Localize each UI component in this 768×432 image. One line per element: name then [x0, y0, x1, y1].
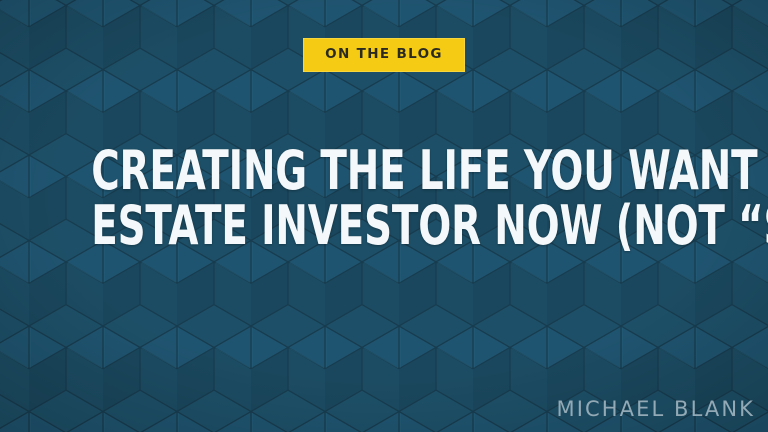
on-the-blog-badge[interactable]: ON THE BLOG — [303, 38, 465, 72]
headline-line-1: CREATING THE LIFE YOU WANT AS A REAL — [91, 143, 677, 198]
page-title: CREATING THE LIFE YOU WANT AS A REAL EST… — [0, 143, 768, 253]
headline-line-2: ESTATE INVESTOR NOW (NOT “SOMEDAY”) — [91, 198, 677, 253]
blog-banner: ON THE BLOG CREATING THE LIFE YOU WANT A… — [0, 0, 768, 432]
brand-wordmark: MICHAEL BLANK — [556, 399, 755, 420]
badge-label: ON THE BLOG — [325, 48, 443, 62]
